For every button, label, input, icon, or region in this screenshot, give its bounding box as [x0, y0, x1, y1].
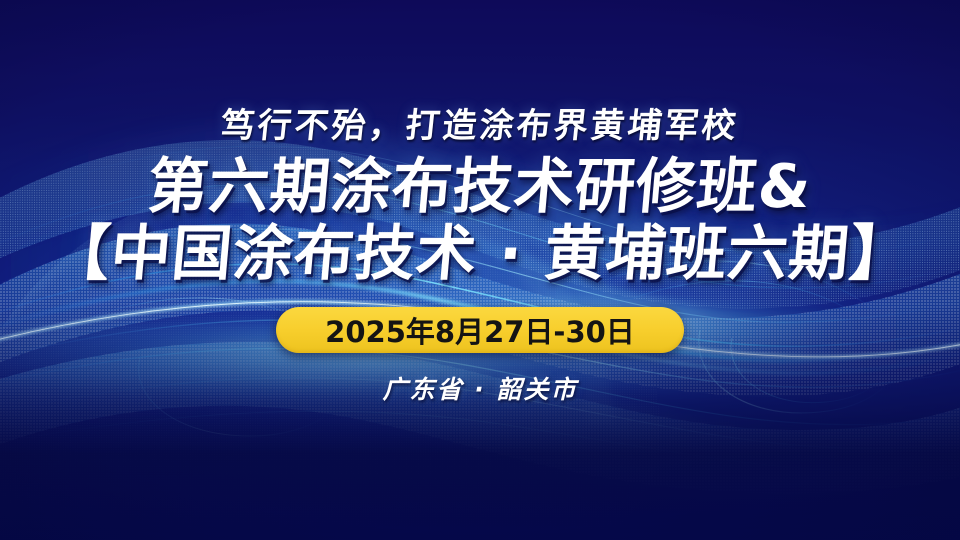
date-badge-text: 2025年8月27日-30日	[325, 309, 635, 351]
event-poster: 笃行不殆，打造涂布界黄埔军校 第六期涂布技术研修班& 【中国涂布技术 · 黄埔班…	[0, 0, 960, 540]
poster-subtitle: 笃行不殆，打造涂布界黄埔军校	[218, 98, 741, 147]
poster-title-line-1: 第六期涂布技术研修班&	[146, 157, 815, 218]
poster-title-line-2: 【中国涂布技术 · 黄埔班六期】	[47, 224, 913, 285]
poster-content: 笃行不殆，打造涂布界黄埔军校 第六期涂布技术研修班& 【中国涂布技术 · 黄埔班…	[0, 0, 960, 540]
poster-location: 广东省 · 韶关市	[383, 370, 578, 406]
poster-title: 第六期涂布技术研修班& 【中国涂布技术 · 黄埔班六期】	[50, 157, 911, 285]
date-badge: 2025年8月27日-30日	[276, 307, 684, 353]
